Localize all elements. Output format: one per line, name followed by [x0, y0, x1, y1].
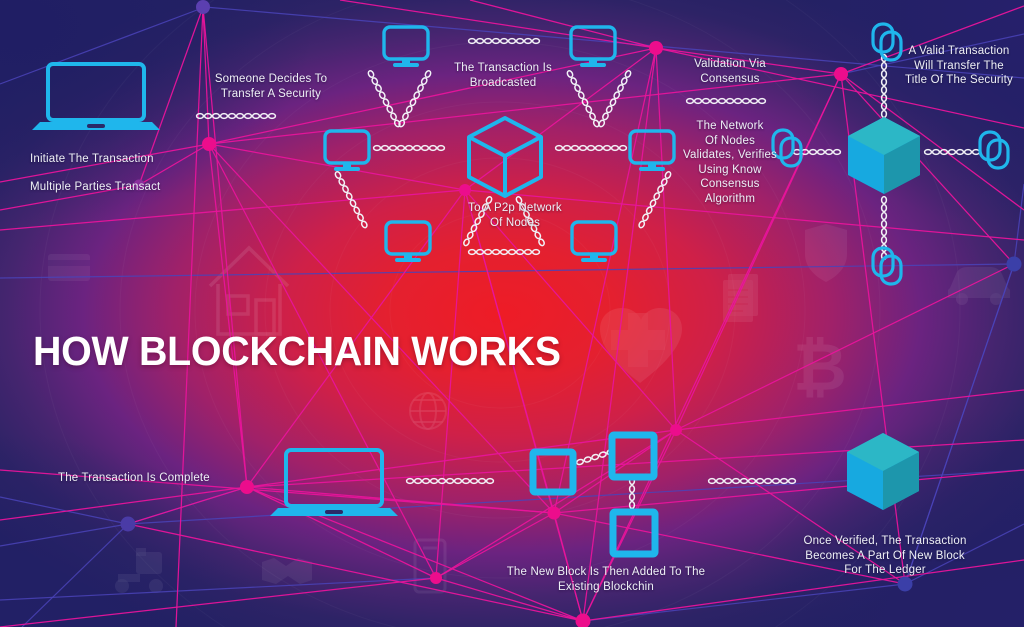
label-the-network-of-nodes: The Network Of Nodes Validates, Verifies… [662, 119, 798, 206]
label-to-a-p2p-network-of-nodes: To A P2p Network Of Nodes [440, 201, 590, 230]
block-cube-solid-icon [848, 117, 920, 194]
block-square-icon [613, 512, 655, 554]
monitor-icon [384, 27, 428, 67]
label-once-verified: Once Verified, The Transaction Becomes A… [790, 534, 980, 578]
laptop-icon [32, 64, 160, 130]
monitor-icon [325, 131, 369, 171]
block-square-icon [612, 435, 654, 477]
chain-link-icon [873, 248, 901, 284]
chain-link-icon [980, 132, 1008, 168]
page-title: HOW BLOCKCHAIN WORKS [33, 328, 561, 374]
label-the-new-block-added: The New Block Is Then Added To The Exist… [496, 565, 716, 594]
label-the-transaction-is-complete: The Transaction Is Complete [58, 471, 268, 486]
label-multiple-parties-transact: Multiple Parties Transact [30, 180, 220, 195]
label-validation-via-consensus: Validation Via Consensus [660, 57, 800, 86]
infographic-canvas: ₿ [0, 0, 1024, 627]
label-someone-decides-to-transfer: Someone Decides To Transfer A Security [186, 72, 356, 101]
laptop-icon [270, 450, 398, 516]
label-initiate-the-transaction: Initiate The Transaction [30, 152, 220, 167]
block-cube-solid-icon [847, 433, 919, 510]
block-square-icon [533, 452, 573, 492]
monitor-icon [386, 222, 430, 262]
label-the-transaction-is-broadcasted: The Transaction Is Broadcasted [428, 61, 578, 90]
label-a-valid-transaction: A Valid Transaction Will Transfer The Ti… [896, 44, 1022, 88]
block-cube-outline-icon [469, 118, 541, 196]
foreground-icons-layer [0, 0, 1024, 627]
